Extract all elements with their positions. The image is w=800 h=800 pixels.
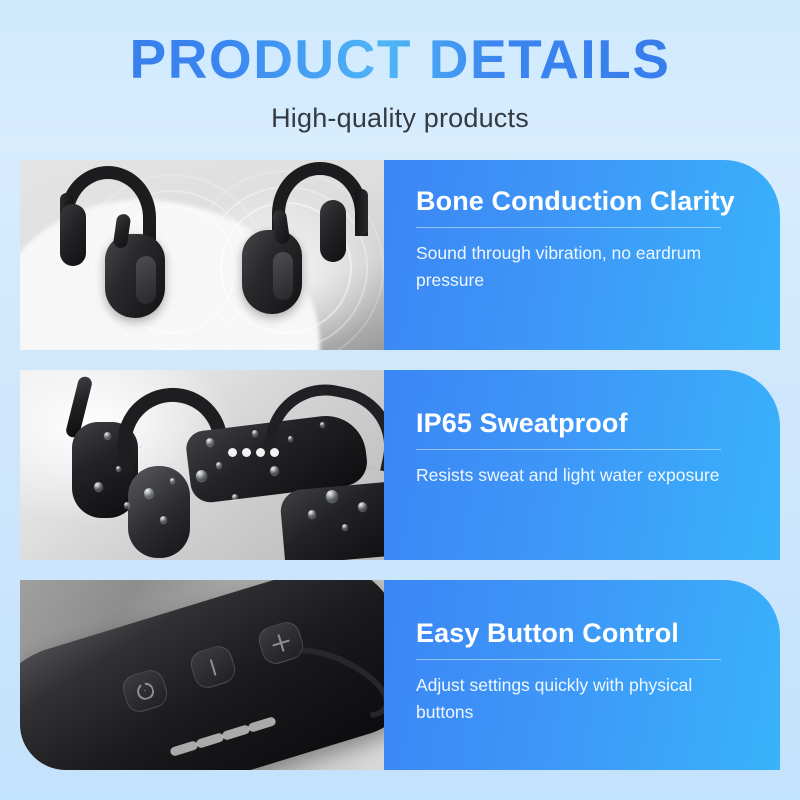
feature-image-button-control [20, 580, 384, 770]
feature-title: Bone Conduction Clarity [416, 186, 750, 217]
led-indicators [228, 448, 279, 457]
page-subtitle: High-quality products [0, 103, 800, 134]
page-header: PRODUCT DETAILS High-quality products [0, 0, 800, 134]
feature-row-button-control: Easy Button Control Adjust settings quic… [20, 580, 780, 770]
feature-title: IP65 Sweatproof [416, 408, 750, 439]
feature-image-bone-conduction [20, 160, 384, 350]
feature-text-button-control: Easy Button Control Adjust settings quic… [384, 580, 780, 770]
feature-description: Adjust settings quickly with physical bu… [416, 672, 726, 726]
feature-divider [416, 449, 721, 450]
page-title: PRODUCT DETAILS [0, 32, 800, 87]
feature-description: Sound through vibration, no eardrum pres… [416, 240, 716, 294]
plus-icon [270, 632, 292, 654]
feature-row-bone-conduction: Bone Conduction Clarity Sound through vi… [20, 160, 780, 350]
feature-image-sweatproof [20, 370, 384, 560]
feature-divider [416, 659, 721, 660]
feature-list: Bone Conduction Clarity Sound through vi… [20, 160, 780, 770]
feature-divider [416, 227, 721, 228]
feature-title: Easy Button Control [416, 618, 750, 649]
feature-description: Resists sweat and light water exposure [416, 462, 726, 489]
feature-text-sweatproof: IP65 Sweatproof Resists sweat and light … [384, 370, 780, 560]
power-icon [134, 680, 155, 701]
feature-text-bone-conduction: Bone Conduction Clarity Sound through vi… [384, 160, 780, 350]
feature-row-sweatproof: IP65 Sweatproof Resists sweat and light … [20, 370, 780, 560]
minus-icon [210, 659, 217, 676]
